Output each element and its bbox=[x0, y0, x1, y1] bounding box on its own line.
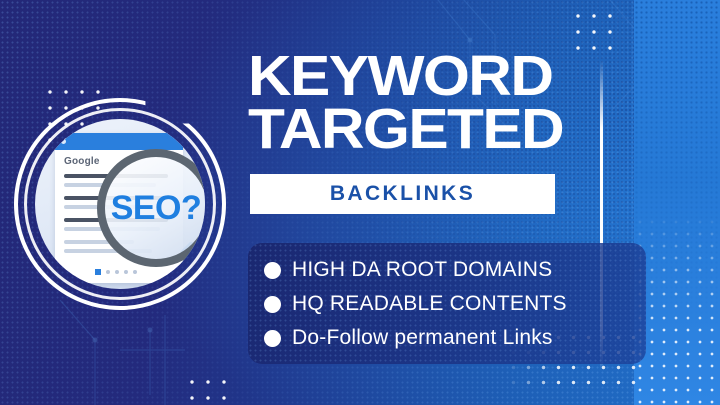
pagination-dot bbox=[133, 270, 137, 274]
bullet-dot-icon bbox=[264, 262, 281, 279]
list-item: Do-Follow permanent Links bbox=[264, 321, 646, 355]
pagination-dot bbox=[106, 270, 110, 274]
illustration-disc: Google SEO? bbox=[35, 119, 205, 289]
bullet-dot-icon bbox=[264, 296, 281, 313]
card-header-bar bbox=[55, 133, 183, 150]
pagination-dot bbox=[115, 270, 119, 274]
backlinks-badge-label: BACKLINKS bbox=[330, 182, 475, 206]
headline-line-2: TARGETED bbox=[248, 103, 672, 156]
search-engine-label: Google bbox=[64, 156, 100, 167]
pagination-current bbox=[95, 269, 101, 275]
magnifier-label: SEO? bbox=[97, 149, 205, 267]
seo-illustration: Google SEO? bbox=[14, 98, 226, 310]
list-item: HIGH DA ROOT DOMAINS bbox=[264, 253, 646, 287]
card-dot-icon bbox=[61, 139, 66, 144]
bullet-dot-icon bbox=[264, 330, 281, 347]
backlinks-badge: BACKLINKS bbox=[250, 174, 555, 214]
pagination-indicator bbox=[95, 269, 137, 275]
feature-label: HQ READABLE CONTENTS bbox=[292, 292, 567, 316]
headline-line-1: KEYWORD bbox=[248, 50, 672, 103]
list-item: HQ READABLE CONTENTS bbox=[264, 287, 646, 321]
magnifying-glass-icon: SEO? bbox=[97, 149, 205, 267]
feature-label: Do-Follow permanent Links bbox=[292, 326, 553, 350]
promo-banner: Google SEO? bbox=[0, 0, 720, 405]
page-title: KEYWORD TARGETED bbox=[248, 50, 648, 156]
dot-grid-top-right bbox=[570, 8, 616, 54]
feature-list: HIGH DA ROOT DOMAINS HQ READABLE CONTENT… bbox=[248, 243, 646, 364]
pagination-dot bbox=[124, 270, 128, 274]
feature-label: HIGH DA ROOT DOMAINS bbox=[292, 258, 552, 282]
dot-grid-bottom-left bbox=[184, 374, 230, 405]
